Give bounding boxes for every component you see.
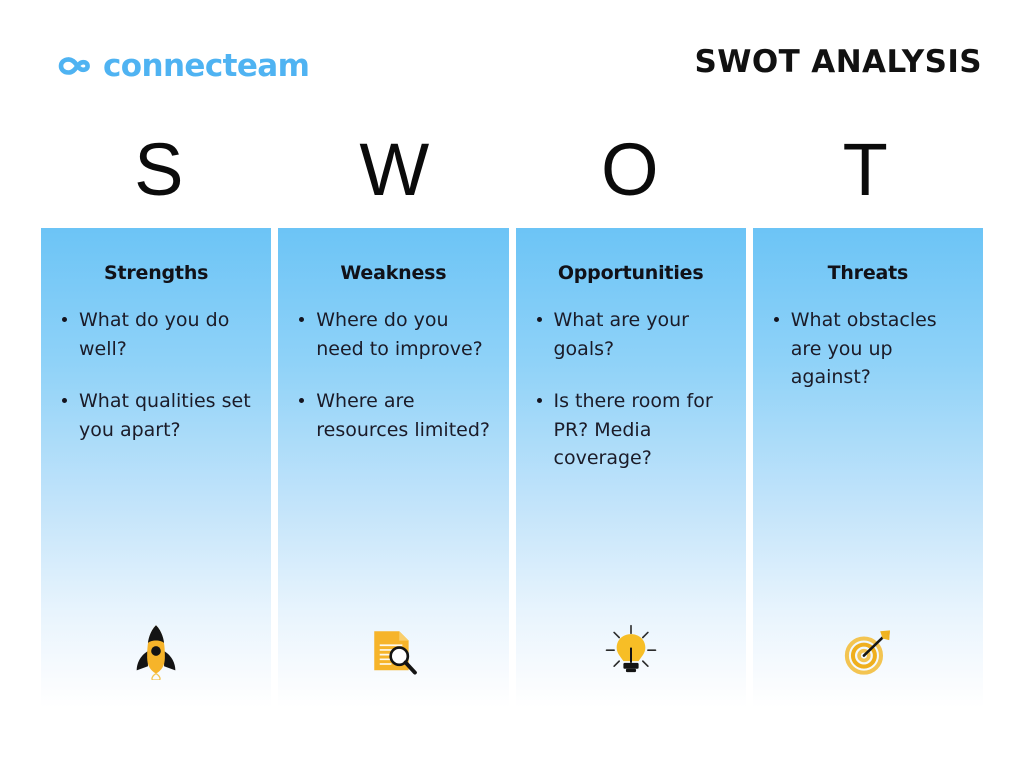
quadrant-weakness[interactable]: Weakness Where do you need to improve? W…: [278, 228, 508, 708]
quadrant-title-threats: Threats: [753, 262, 983, 284]
list-item: What do you do well?: [57, 306, 257, 363]
connecteam-infinity-logo-icon: [58, 51, 102, 81]
bullet-list-weakness: Where do you need to improve? Where are …: [278, 306, 508, 444]
quadrant-title-weakness: Weakness: [278, 262, 508, 284]
list-item: Where are resources limited?: [294, 387, 494, 444]
bullet-list-threats: What obstacles are you up against?: [753, 306, 983, 392]
swot-quadrants: Strengths What do you do well? What qual…: [41, 228, 983, 708]
quadrant-threats[interactable]: Threats What obstacles are you up agains…: [753, 228, 983, 708]
document-search-icon: [278, 616, 508, 686]
swot-letter-w: W: [277, 128, 513, 212]
page-title: SWOT ANALYSIS: [695, 47, 983, 78]
list-item: What obstacles are you up against?: [769, 306, 969, 392]
quadrant-title-opportunities: Opportunities: [516, 262, 746, 284]
target-arrow-icon: [753, 616, 983, 686]
bullet-list-strengths: What do you do well? What qualities set …: [41, 306, 271, 444]
swot-letter-t: T: [748, 128, 984, 212]
brand-logo-text: connecteam: [103, 51, 309, 82]
swot-letter-o: O: [512, 128, 748, 212]
quadrant-strengths[interactable]: Strengths What do you do well? What qual…: [41, 228, 271, 708]
bullet-list-opportunities: What are your goals? Is there room for P…: [516, 306, 746, 473]
lightbulb-icon: [516, 616, 746, 686]
list-item: What are your goals?: [532, 306, 732, 363]
list-item: Where do you need to improve?: [294, 306, 494, 363]
swot-letters: S W O T: [41, 128, 983, 212]
quadrant-title-strengths: Strengths: [41, 262, 271, 284]
page-header: connecteam SWOT ANALYSIS: [0, 0, 1024, 110]
brand-logo[interactable]: connecteam: [58, 44, 309, 88]
list-item: What qualities set you apart?: [57, 387, 257, 444]
rocket-icon: [41, 616, 271, 686]
quadrant-opportunities[interactable]: Opportunities What are your goals? Is th…: [516, 228, 746, 708]
swot-letter-s: S: [41, 128, 277, 212]
list-item: Is there room for PR? Media coverage?: [532, 387, 732, 473]
